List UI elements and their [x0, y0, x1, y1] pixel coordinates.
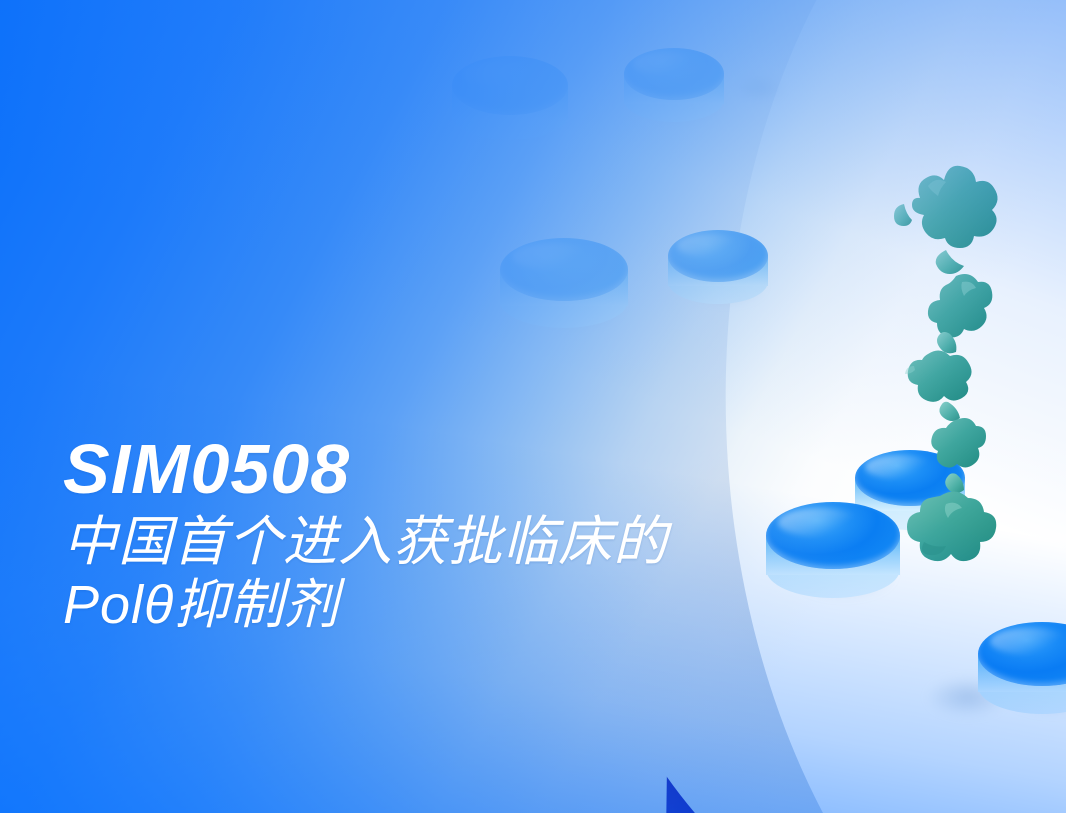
- blue-tablet-icon: [766, 502, 900, 598]
- blue-tablet-icon: [452, 56, 568, 140]
- blue-tablet-icon: [500, 238, 628, 328]
- protein-structure-icon: [884, 158, 1020, 578]
- poster-canvas: SIM0508 中国首个进入获批临床的 Polθ抑制剂: [0, 0, 1066, 813]
- blue-tablet-icon: [978, 622, 1066, 714]
